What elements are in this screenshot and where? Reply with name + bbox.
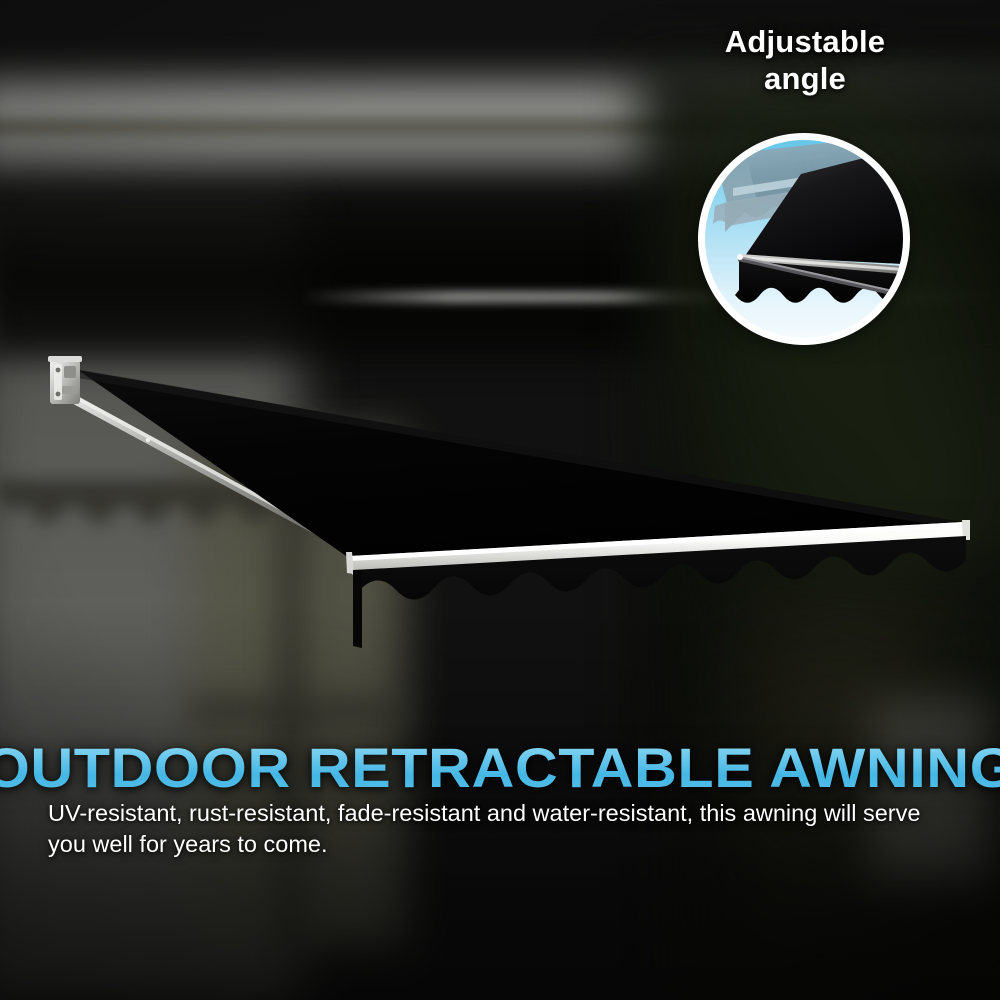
callout-adjustable-angle: Adjustable angle [660, 24, 950, 97]
inset-angle-illustration [705, 140, 903, 338]
wall-mount-bracket [48, 356, 82, 404]
page-title: OUTDOOR RETRACTABLE AWNING [0, 735, 1000, 800]
product-marketing-image: Adjustable angle [0, 0, 1000, 1000]
callout-line-1: Adjustable [660, 24, 950, 61]
callout-line-2: angle [660, 61, 950, 98]
product-description: UV-resistant, rust-resistant, fade-resis… [48, 798, 948, 861]
adjustable-angle-detail-icon [698, 133, 910, 345]
